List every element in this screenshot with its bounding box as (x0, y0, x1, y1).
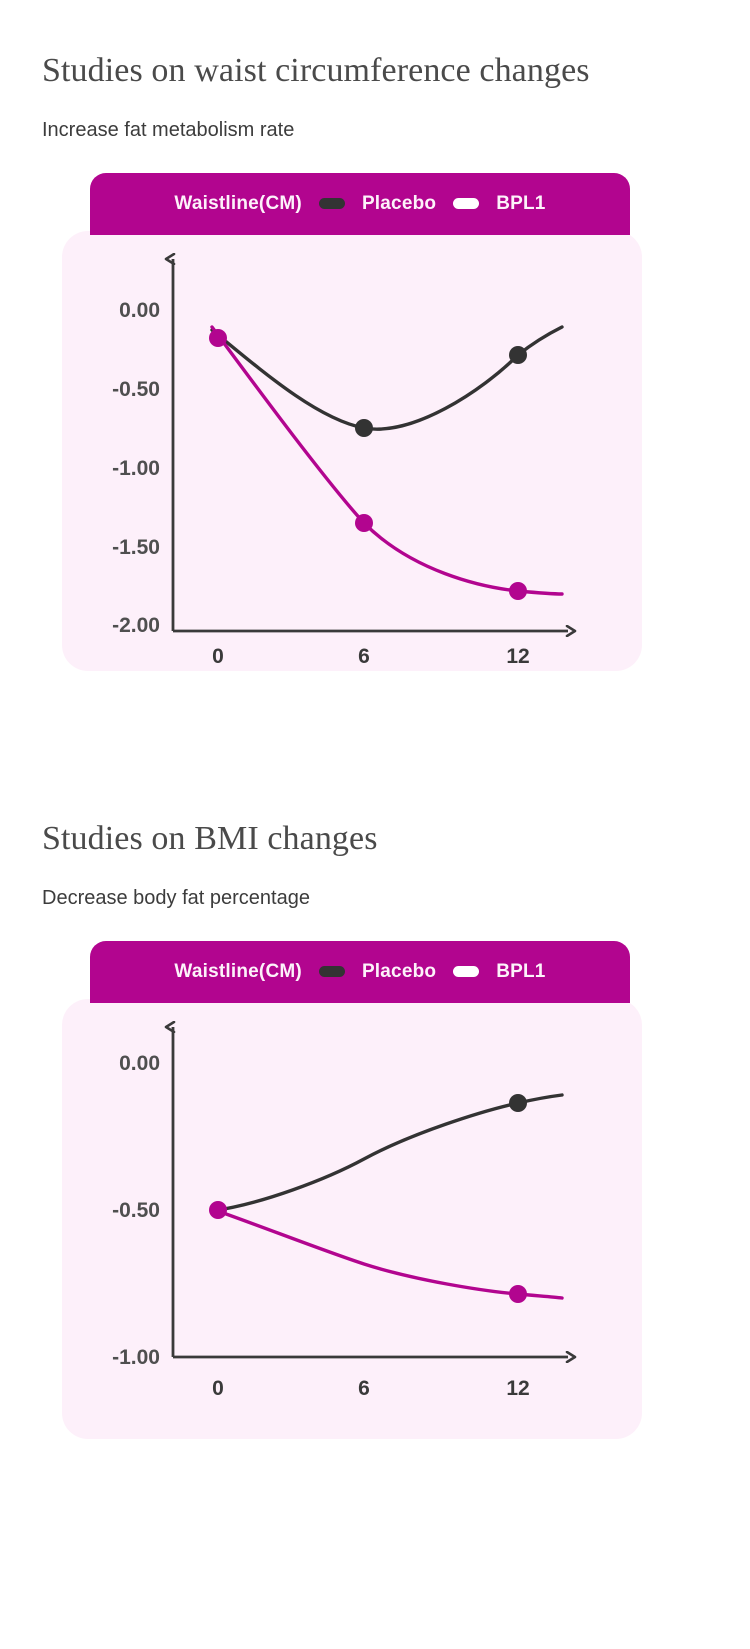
y-tick-label-bmi-0: 0.00 (119, 1052, 160, 1075)
y-tick-label-bmi-2: -1.00 (112, 1346, 160, 1369)
legend-unit-label: Waistline(CM) (174, 193, 302, 215)
page-subtitle: Increase fat metabolism rate (0, 93, 750, 143)
chart-legend-bar: Waistline(CM) Placebo BPL1 (90, 173, 630, 235)
y-tick-label-2: -1.00 (112, 457, 160, 480)
legend-swatch-placebo-icon-bmi (319, 966, 345, 977)
data-point-bpl1-12 (509, 582, 527, 600)
data-point-placebo-12 (509, 346, 527, 364)
page-title: Studies on waist circumference changes (0, 0, 750, 93)
data-point-placebo-bmi-12 (509, 1094, 527, 1112)
legend-unit-label-bmi: Waistline(CM) (174, 961, 302, 983)
legend-swatch-placebo-icon (319, 198, 345, 209)
chart-legend-bar-bmi: Waistline(CM) Placebo BPL1 (90, 941, 630, 1003)
legend-item-placebo-bmi[interactable]: Placebo (362, 961, 436, 983)
plot-area-waist: 0.00 -0.50 -1.00 -1.50 -2.00 0 6 12 (62, 231, 642, 671)
plot-area-bmi: 0.00 -0.50 -1.00 0 6 12 (62, 999, 642, 1439)
legend-swatch-bpl1-icon (453, 198, 479, 209)
y-tick-label-3: -1.50 (112, 536, 160, 559)
x-tick-label-1: 6 (358, 645, 370, 668)
y-tick-label-4: -2.00 (112, 614, 160, 637)
data-point-bpl1-0 (209, 329, 227, 347)
chart-section-waist: Studies on waist circumference changes I… (0, 0, 750, 671)
x-tick-label-bmi-0: 0 (212, 1377, 224, 1400)
data-point-bpl1-bmi-0 (209, 1201, 227, 1219)
legend-item-placebo[interactable]: Placebo (362, 193, 436, 215)
x-tick-label-2: 12 (506, 645, 529, 668)
series-line-bpl1 (212, 327, 562, 594)
legend-swatch-bpl1-icon-bmi (453, 966, 479, 977)
series-line-placebo-bmi (212, 1095, 562, 1211)
data-point-bpl1-6 (355, 514, 373, 532)
legend-item-bpl1-bmi[interactable]: BPL1 (496, 961, 545, 983)
page-root: Studies on waist circumference changes I… (0, 0, 750, 1649)
data-point-bpl1-bmi-12 (509, 1285, 527, 1303)
page-title-bmi: Studies on BMI changes (0, 768, 750, 861)
y-tick-label-0: 0.00 (119, 299, 160, 322)
y-tick-label-1: -0.50 (112, 378, 160, 401)
chart-section-bmi: Studies on BMI changes Decrease body fat… (0, 768, 750, 1439)
page-subtitle-bmi: Decrease body fat percentage (0, 861, 750, 911)
series-line-placebo (212, 327, 562, 429)
chart-card-bmi: Waistline(CM) Placebo BPL1 (62, 941, 642, 1439)
x-tick-label-bmi-2: 12 (506, 1377, 529, 1400)
series-line-bpl1-bmi (212, 1209, 562, 1298)
legend-item-bpl1[interactable]: BPL1 (496, 193, 545, 215)
line-chart-waist: 0.00 -0.50 -1.00 -1.50 -2.00 0 6 12 (62, 231, 642, 671)
chart-card-waist: Waistline(CM) Placebo BPL1 (62, 173, 642, 671)
x-tick-label-0: 0 (212, 645, 224, 668)
line-chart-bmi: 0.00 -0.50 -1.00 0 6 12 (62, 999, 642, 1439)
data-point-placebo-6 (355, 419, 373, 437)
y-tick-label-bmi-1: -0.50 (112, 1199, 160, 1222)
x-tick-label-bmi-1: 6 (358, 1377, 370, 1400)
